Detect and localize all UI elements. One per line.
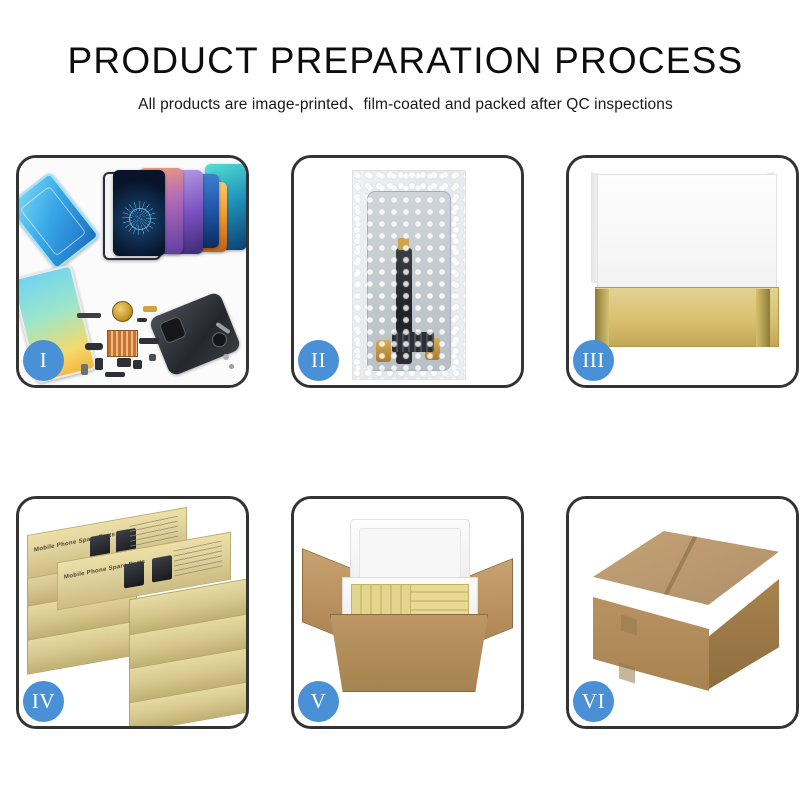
phone-screen-cracked — [113, 170, 165, 256]
kraft-box-edge-right — [756, 289, 770, 347]
flex-cable-part — [81, 364, 88, 375]
process-step-panel-6[interactable]: VI — [566, 496, 799, 729]
bubble-wrap-bag — [352, 170, 466, 380]
bubble-texture-overlay — [353, 171, 465, 379]
flex-cable-part — [143, 306, 157, 312]
process-step-panel-3[interactable]: III — [566, 155, 799, 388]
step-badge-1: I — [23, 340, 64, 381]
flex-cable-part — [95, 358, 103, 370]
box-print-lines — [174, 540, 223, 576]
flex-cable-part — [139, 338, 159, 344]
flex-cable-part — [149, 354, 156, 361]
screw-part — [223, 354, 229, 360]
flex-cable-part — [85, 343, 103, 350]
flex-cable-part — [137, 318, 147, 322]
box-print-screen — [152, 555, 172, 583]
step-badge-2: II — [298, 340, 339, 381]
page-subtitle: All products are image-printed、film-coat… — [0, 92, 811, 114]
process-step-panel-2[interactable]: II — [291, 155, 524, 388]
page-header: PRODUCT PREPARATION PROCESS All products… — [0, 0, 811, 114]
box-lid-back — [597, 174, 777, 298]
process-step-panel-1[interactable]: I — [16, 155, 249, 388]
carton-front-face — [593, 597, 709, 691]
process-step-panel-4[interactable]: Mobile Phone Spare Parts Mobile Phone Sp… — [16, 496, 249, 729]
flex-cable-part — [133, 360, 142, 369]
phone-back-housing — [148, 291, 242, 377]
screen-protector-film — [19, 171, 100, 270]
page-title: PRODUCT PREPARATION PROCESS — [0, 42, 811, 81]
carton-body — [330, 614, 488, 692]
kraft-box-base — [595, 287, 779, 347]
step-badge-6: VI — [573, 681, 614, 722]
step-badge-3: III — [573, 340, 614, 381]
flex-cable-part — [77, 313, 101, 318]
kraft-box-edge-left — [595, 289, 609, 347]
flex-cable-part — [117, 358, 131, 367]
speaker-component-icon — [112, 301, 133, 322]
carton-top-seam — [593, 531, 779, 605]
step-badge-4: IV — [23, 681, 64, 722]
step-badge-5: V — [298, 681, 339, 722]
flex-cable-part — [105, 372, 125, 377]
process-step-panel-5[interactable]: V — [291, 496, 524, 729]
screw-part — [229, 364, 234, 369]
process-steps-grid: I II III — [16, 155, 796, 729]
chip-component-icon — [107, 330, 138, 357]
box-print-screen — [124, 561, 144, 589]
